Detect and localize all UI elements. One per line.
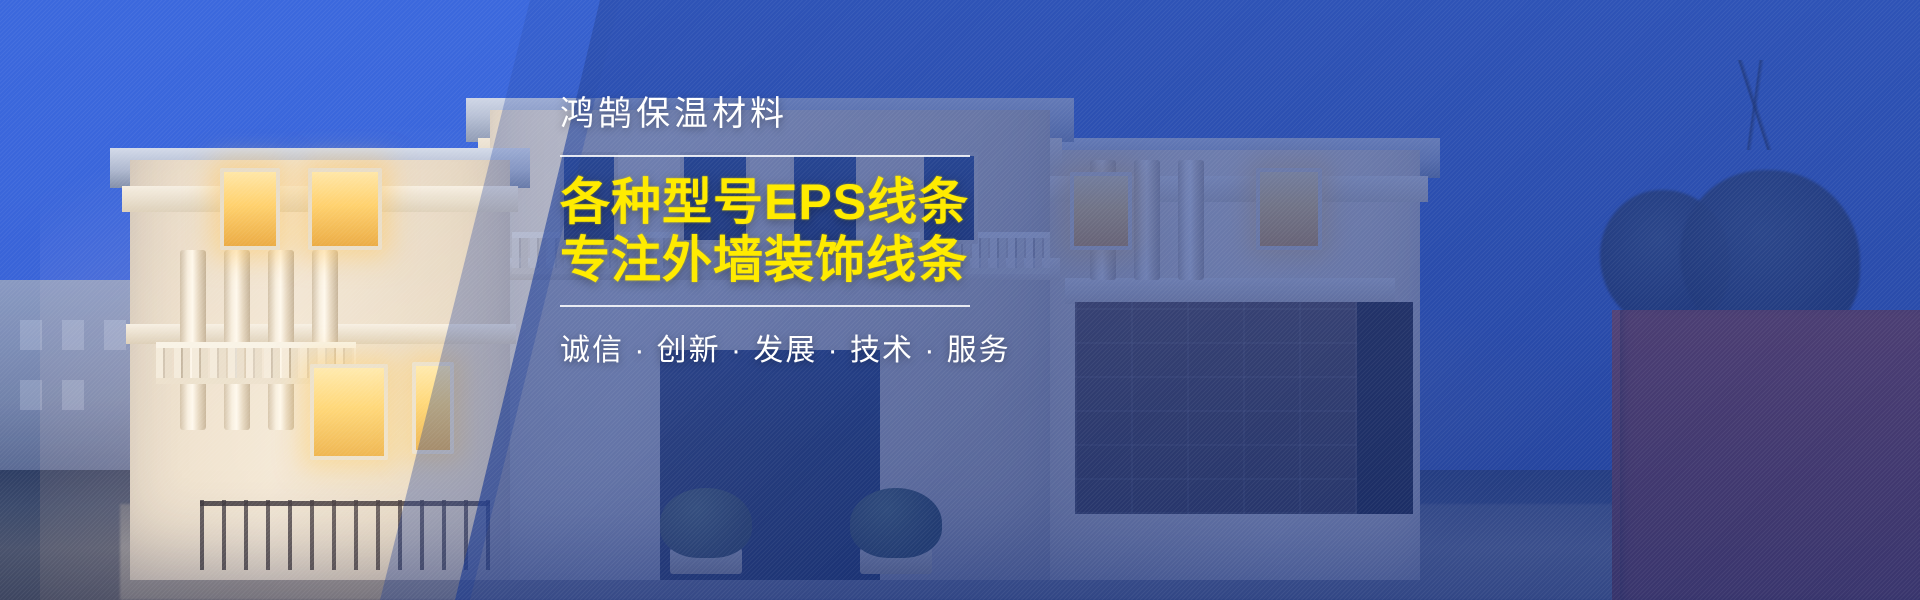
column (1178, 160, 1204, 280)
column (1134, 160, 1160, 280)
red-wall-edge (1612, 310, 1620, 600)
lit-window (1256, 168, 1322, 250)
headline-line-1: 各种型号EPS线条 (560, 173, 1030, 231)
lit-window (1070, 172, 1132, 250)
promo-banner: 鸿鹄保温材料 各种型号EPS线条 专注外墙装饰线条 诚信 · 创新 · 发展 ·… (0, 0, 1920, 600)
garage-door (1075, 302, 1357, 514)
garage-opening (1357, 302, 1413, 514)
distant-window (20, 320, 42, 350)
brand-name: 鸿鹄保温材料 (560, 96, 1030, 133)
distant-window (20, 380, 42, 410)
headline-line-2: 专注外墙装饰线条 (560, 231, 1030, 289)
banner-content: 鸿鹄保温材料 各种型号EPS线条 专注外墙装饰线条 诚信 · 创新 · 发展 ·… (560, 96, 1030, 369)
divider-top (560, 155, 970, 157)
garage-header (1065, 278, 1395, 304)
divider-bottom (560, 305, 970, 307)
tagline: 诚信 · 创新 · 发展 · 技术 · 服务 (560, 325, 1030, 369)
bare-branch-icon (1670, 60, 1850, 150)
red-wall (1620, 310, 1920, 600)
